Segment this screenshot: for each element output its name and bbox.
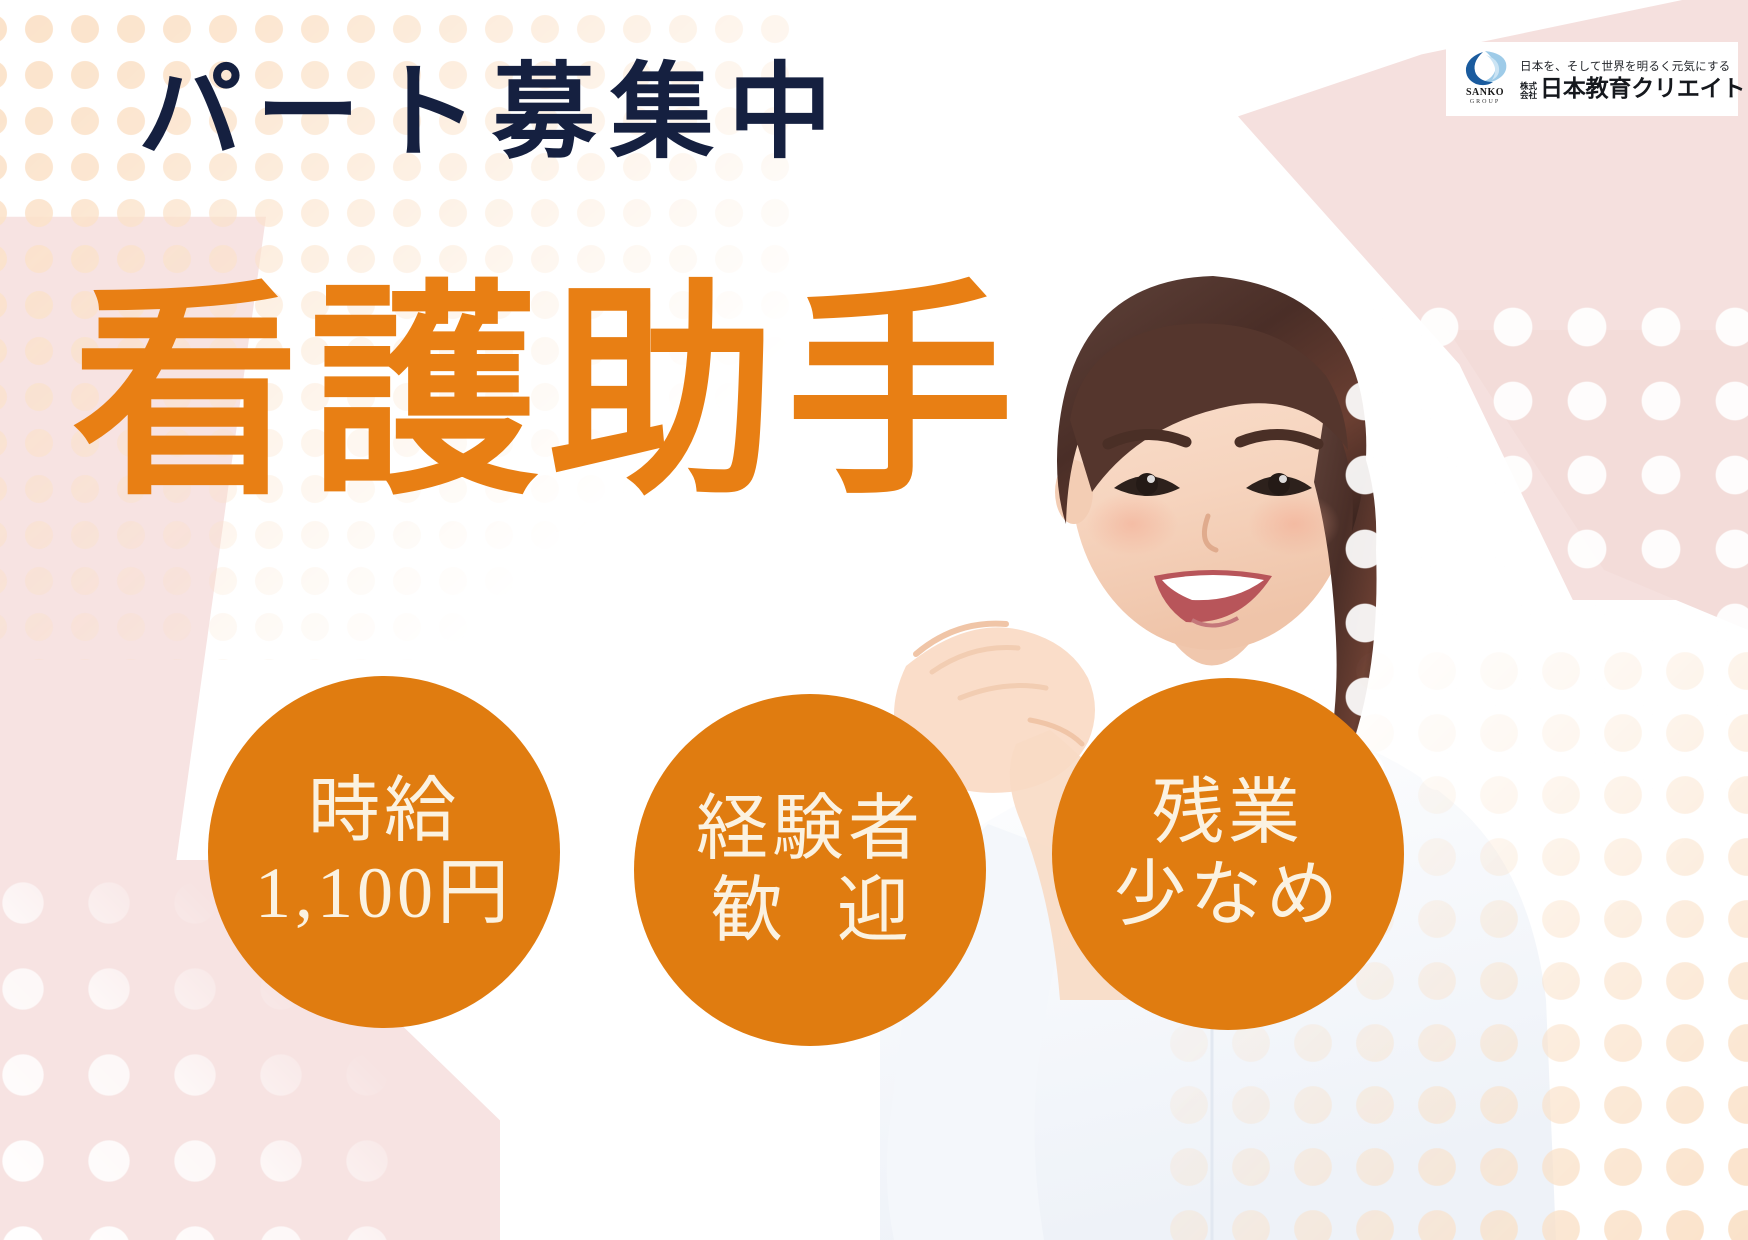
sanko-group-logo-icon: SANKO GROUP	[1458, 49, 1512, 109]
badge-line-1: 残業	[1152, 772, 1304, 854]
badge-line-1: 経験者	[696, 788, 924, 870]
badge-line-2: 1,100円	[255, 852, 513, 934]
logo-text-block: 日本を、そして世界を明るく元気にする 株式 会社 日本教育クリエイト	[1520, 58, 1728, 100]
badge-line-2: 少なめ	[1114, 854, 1342, 936]
logo-tagline: 日本を、そして世界を明るく元気にする	[1520, 58, 1728, 74]
pink-diagonal-wedge-left	[0, 0, 860, 1240]
page-title: 看護助手	[72, 282, 1024, 510]
subheadline: パート募集中	[138, 62, 846, 166]
badge-line-2: 歓 迎	[693, 870, 927, 952]
badge-experience-welcome: 経験者 歓 迎	[634, 694, 986, 1046]
logo-corporate-prefix: 株式 会社	[1520, 82, 1537, 100]
logo-mark-sub: GROUP	[1470, 99, 1500, 105]
logo-kk-line-2: 会社	[1520, 91, 1537, 100]
badge-hourly-wage: 時給 1,100円	[208, 676, 560, 1028]
job-ad-poster: パート募集中 看護助手 時給 1,100円 経験者 歓 迎 残業 少なめ SAN…	[0, 0, 1748, 1240]
badge-little-overtime: 残業 少なめ	[1052, 678, 1404, 1030]
company-logo-box: SANKO GROUP 日本を、そして世界を明るく元気にする 株式 会社 日本教…	[1446, 42, 1738, 116]
logo-company-row: 株式 会社 日本教育クリエイト	[1520, 77, 1728, 100]
logo-company-name: 日本教育クリエイト	[1540, 77, 1745, 100]
badge-line-1: 時給	[308, 770, 460, 852]
logo-mark-name: SANKO	[1466, 88, 1504, 99]
